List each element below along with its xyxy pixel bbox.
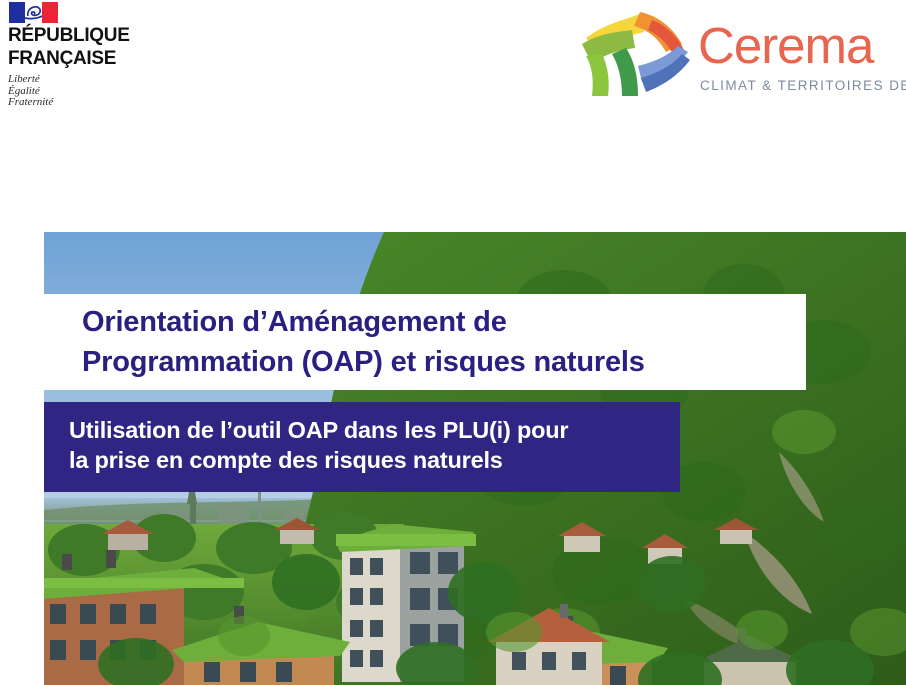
- devise-liberte: Liberté: [8, 74, 158, 86]
- flag-blue-band: [9, 2, 25, 23]
- flag-white-band: [25, 2, 42, 23]
- cerema-wordmark: Cerema: [698, 20, 873, 71]
- devise-fraternite: Fraternité: [8, 97, 158, 109]
- slide-subtitle-line-1: Utilisation de l’outil OAP dans les PLU(…: [69, 415, 680, 445]
- slide-subtitle-line-2: la prise en compte des risques naturels: [69, 445, 680, 475]
- french-flag-marianne-icon: [9, 2, 58, 23]
- slide-title-box: Orientation d’Aménagement de Programmati…: [44, 294, 806, 390]
- slide-title-line-2: Programmation (OAP) et risques naturels: [82, 342, 806, 382]
- cerema-logo: Cerema CLIMAT & TERRITOIRES DE DEMAIN: [578, 6, 903, 101]
- cerema-pinwheel-icon: [578, 8, 696, 98]
- marianne-profile-icon: [25, 2, 42, 23]
- devise-block: Liberté Égalité Fraternité: [8, 74, 158, 109]
- cerema-tagline: CLIMAT & TERRITOIRES DE DEMAIN: [700, 78, 906, 93]
- republique-francaise-logo: RÉPUBLIQUE FRANÇAISE Liberté Égalité Fra…: [8, 2, 158, 109]
- republique-line-1: RÉPUBLIQUE: [8, 26, 158, 46]
- slide-title-line-1: Orientation d’Aménagement de: [82, 302, 806, 342]
- slide-subtitle-box: Utilisation de l’outil OAP dans les PLU(…: [44, 402, 680, 492]
- flag-red-band: [42, 2, 58, 23]
- page-header: RÉPUBLIQUE FRANÇAISE Liberté Égalité Fra…: [0, 0, 906, 120]
- republique-line-2: FRANÇAISE: [8, 49, 158, 69]
